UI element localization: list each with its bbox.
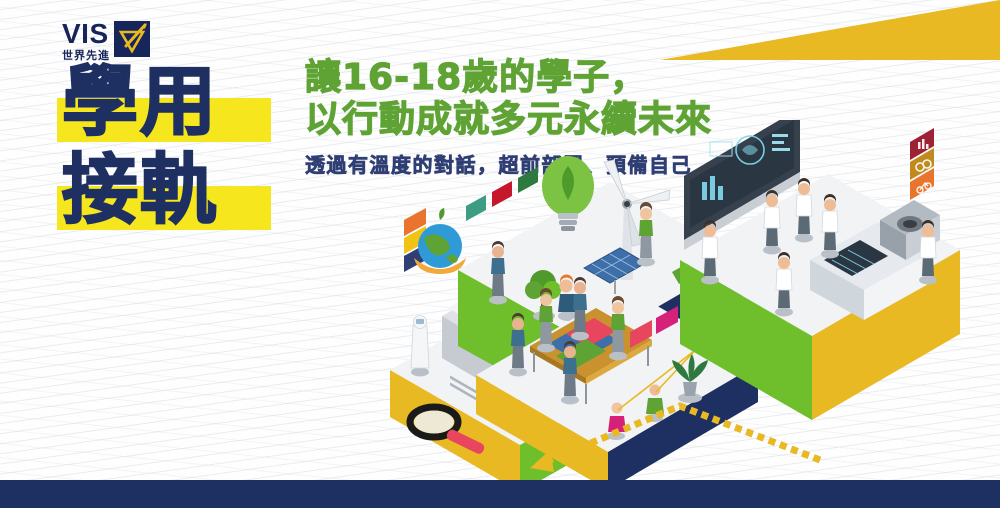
headline-line-1: 讓16-18歲的學子， <box>305 57 712 99</box>
banner-stage: VIS 世界先進 學用 接軌 讓16-18歲的學子， 以行動成就多元永續未來 透… <box>0 0 1000 508</box>
title-line-2: 接軌 <box>62 146 218 234</box>
bottom-accent-bar <box>0 480 1000 508</box>
title-line-1: 學用 <box>62 58 218 146</box>
sdg-row-center <box>466 167 538 221</box>
title-line-2-text: 接軌 <box>62 152 218 228</box>
vis-checkmark-icon <box>114 21 150 57</box>
title-line-1-text: 學用 <box>62 64 218 140</box>
page-title: 學用 接軌 <box>62 58 218 234</box>
cleanroom-worker <box>411 316 429 377</box>
sdg-stack-right <box>910 128 934 200</box>
corner-wedge-decoration <box>660 0 1000 60</box>
logo-wordmark: VIS 世界先進 <box>62 20 110 62</box>
vis-logo[interactable]: VIS 世界先進 <box>62 20 150 62</box>
logo-vis-text: VIS <box>62 20 109 48</box>
isometric-illustration <box>380 120 1000 490</box>
